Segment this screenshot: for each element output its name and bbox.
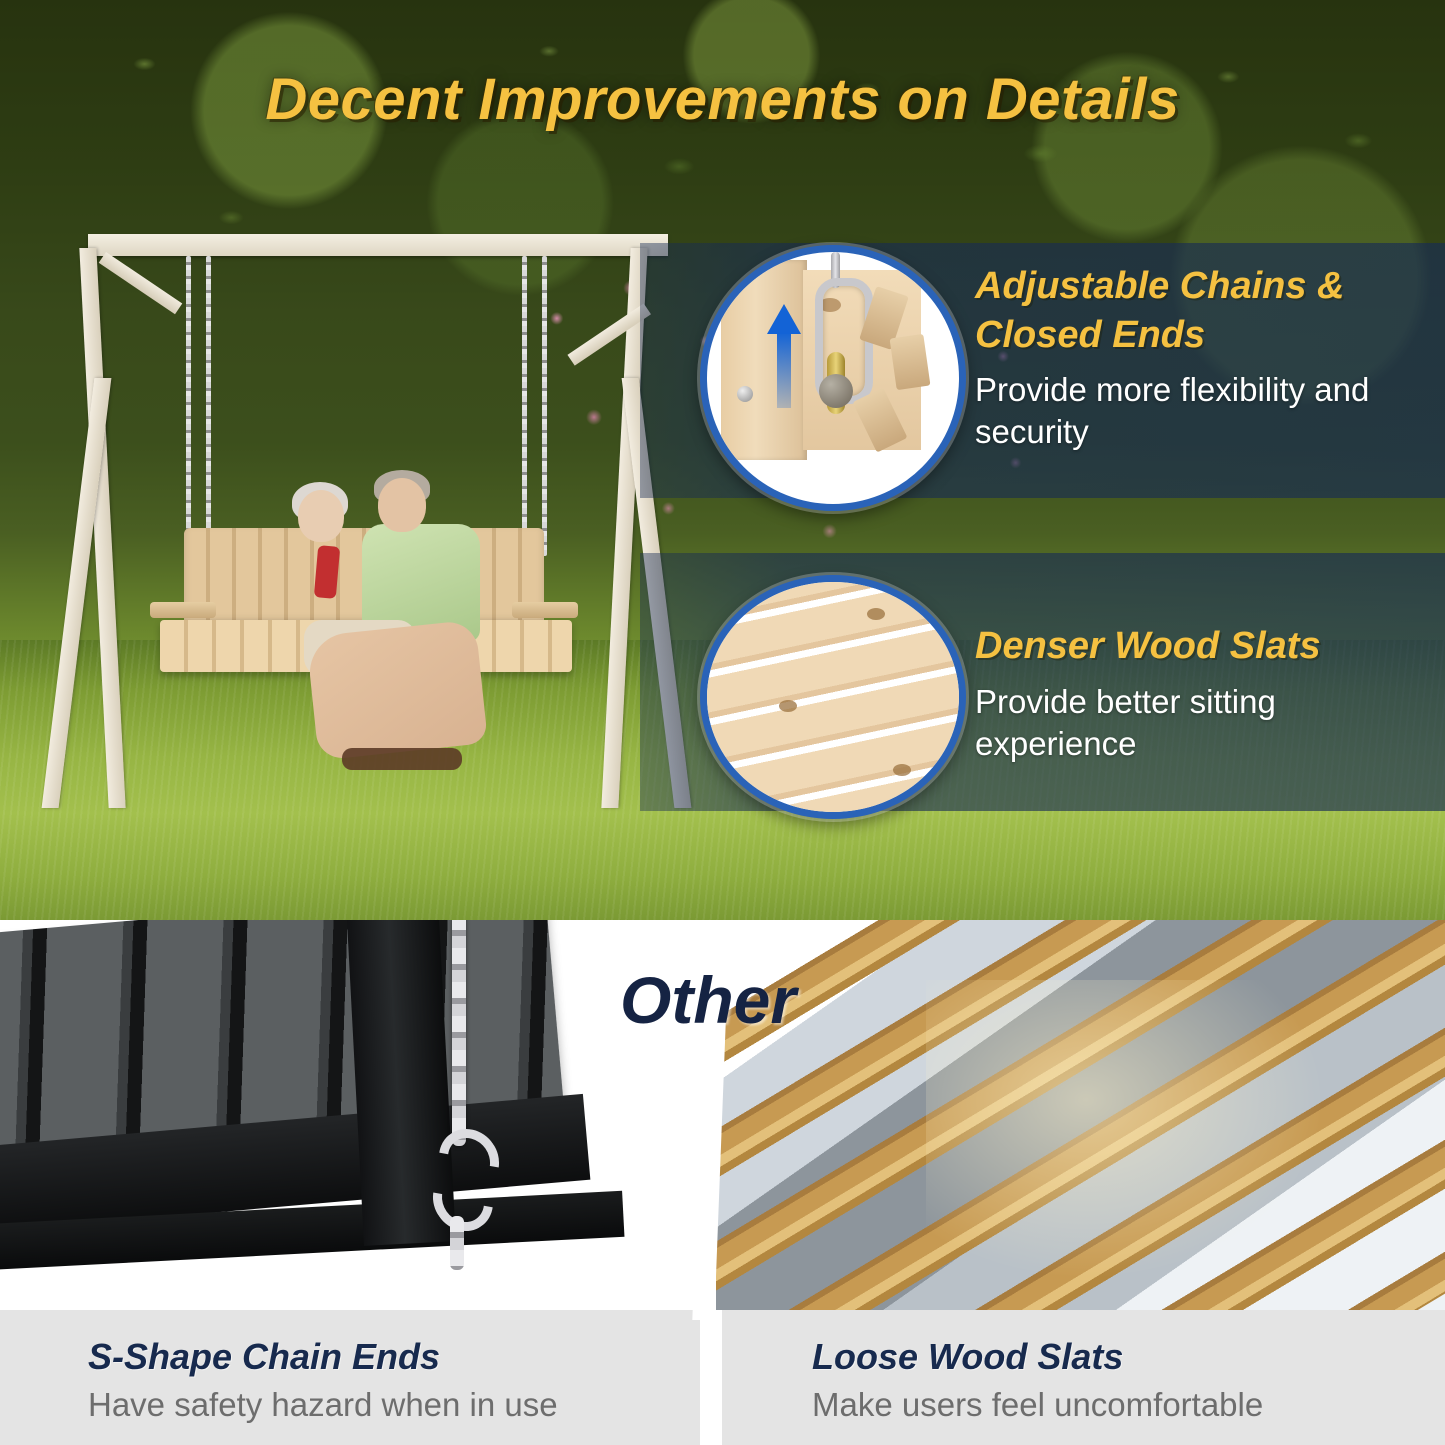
- caption-subtitle: Make users feel uncomfortable: [812, 1386, 1445, 1424]
- feature-description: Provide better sitting experience: [975, 681, 1415, 765]
- bolt-cap: [819, 374, 853, 408]
- wood-post: [721, 260, 807, 460]
- caption-title: Loose Wood Slats: [812, 1336, 1445, 1378]
- crossed-legs: [306, 619, 488, 760]
- caption-title: S-Shape Chain Ends: [88, 1336, 706, 1378]
- frame-top-beam: [88, 234, 668, 256]
- wood-knot: [867, 608, 885, 620]
- chain-closeup-icon: [700, 245, 966, 511]
- up-arrow-icon: [767, 304, 801, 334]
- wood-slat-piece: [890, 334, 931, 390]
- feature-text-chains: Adjustable Chains & Closed Ends Provide …: [975, 262, 1415, 454]
- frame-brace-left: [99, 252, 183, 314]
- feature-text-slats: Denser Wood Slats Provide better sitting…: [975, 622, 1415, 765]
- dense-wood-slats: [707, 582, 959, 812]
- chain-icon: [452, 920, 466, 1146]
- caption-loose-wood-slats: Loose Wood Slats Make users feel uncomfo…: [716, 1310, 1445, 1445]
- caption-divider: [700, 1310, 722, 1445]
- feature-description: Provide more flexibility and security: [975, 369, 1415, 453]
- bench-armrest-left: [150, 602, 216, 618]
- screw-icon: [737, 386, 753, 402]
- comparison-image-s-hook: [0, 920, 706, 1315]
- s-hook-icon: [432, 1128, 488, 1224]
- sunlight-glare: [926, 980, 1326, 1280]
- swing-chain: [206, 256, 211, 556]
- up-arrow-stem: [777, 332, 791, 408]
- man-head: [378, 478, 426, 532]
- caption-subtitle: Have safety hazard when in use: [88, 1386, 706, 1424]
- feature-title-line1: Adjustable Chains &: [975, 262, 1415, 311]
- swing-chain: [522, 256, 527, 546]
- red-scarf: [314, 545, 340, 599]
- sandals: [342, 748, 462, 770]
- dense-slats-closeup-icon: [700, 575, 966, 819]
- swing-chain: [542, 256, 547, 556]
- swing-chain: [186, 256, 191, 546]
- page-title: Decent Improvements on Details: [0, 66, 1445, 133]
- feature-title: Denser Wood Slats: [975, 622, 1415, 671]
- hero-section: Decent Improvements on Details: [0, 0, 1445, 920]
- comparison-heading: Other: [620, 962, 796, 1038]
- comparison-image-loose-slats: [716, 920, 1445, 1315]
- caption-row: S-Shape Chain Ends Have safety hazard wh…: [0, 1310, 1445, 1445]
- feature-title-line2: Closed Ends: [975, 311, 1415, 360]
- wood-knot: [893, 764, 911, 776]
- woman-head: [298, 490, 344, 542]
- chain-icon: [450, 1216, 464, 1270]
- porch-swing-photo: [60, 228, 690, 828]
- wood-knot: [779, 700, 797, 712]
- product-detail-infographic: Decent Improvements on Details: [0, 0, 1445, 1445]
- caption-s-shape-chain-ends: S-Shape Chain Ends Have safety hazard wh…: [0, 1310, 706, 1445]
- bench-armrest-right: [512, 602, 578, 618]
